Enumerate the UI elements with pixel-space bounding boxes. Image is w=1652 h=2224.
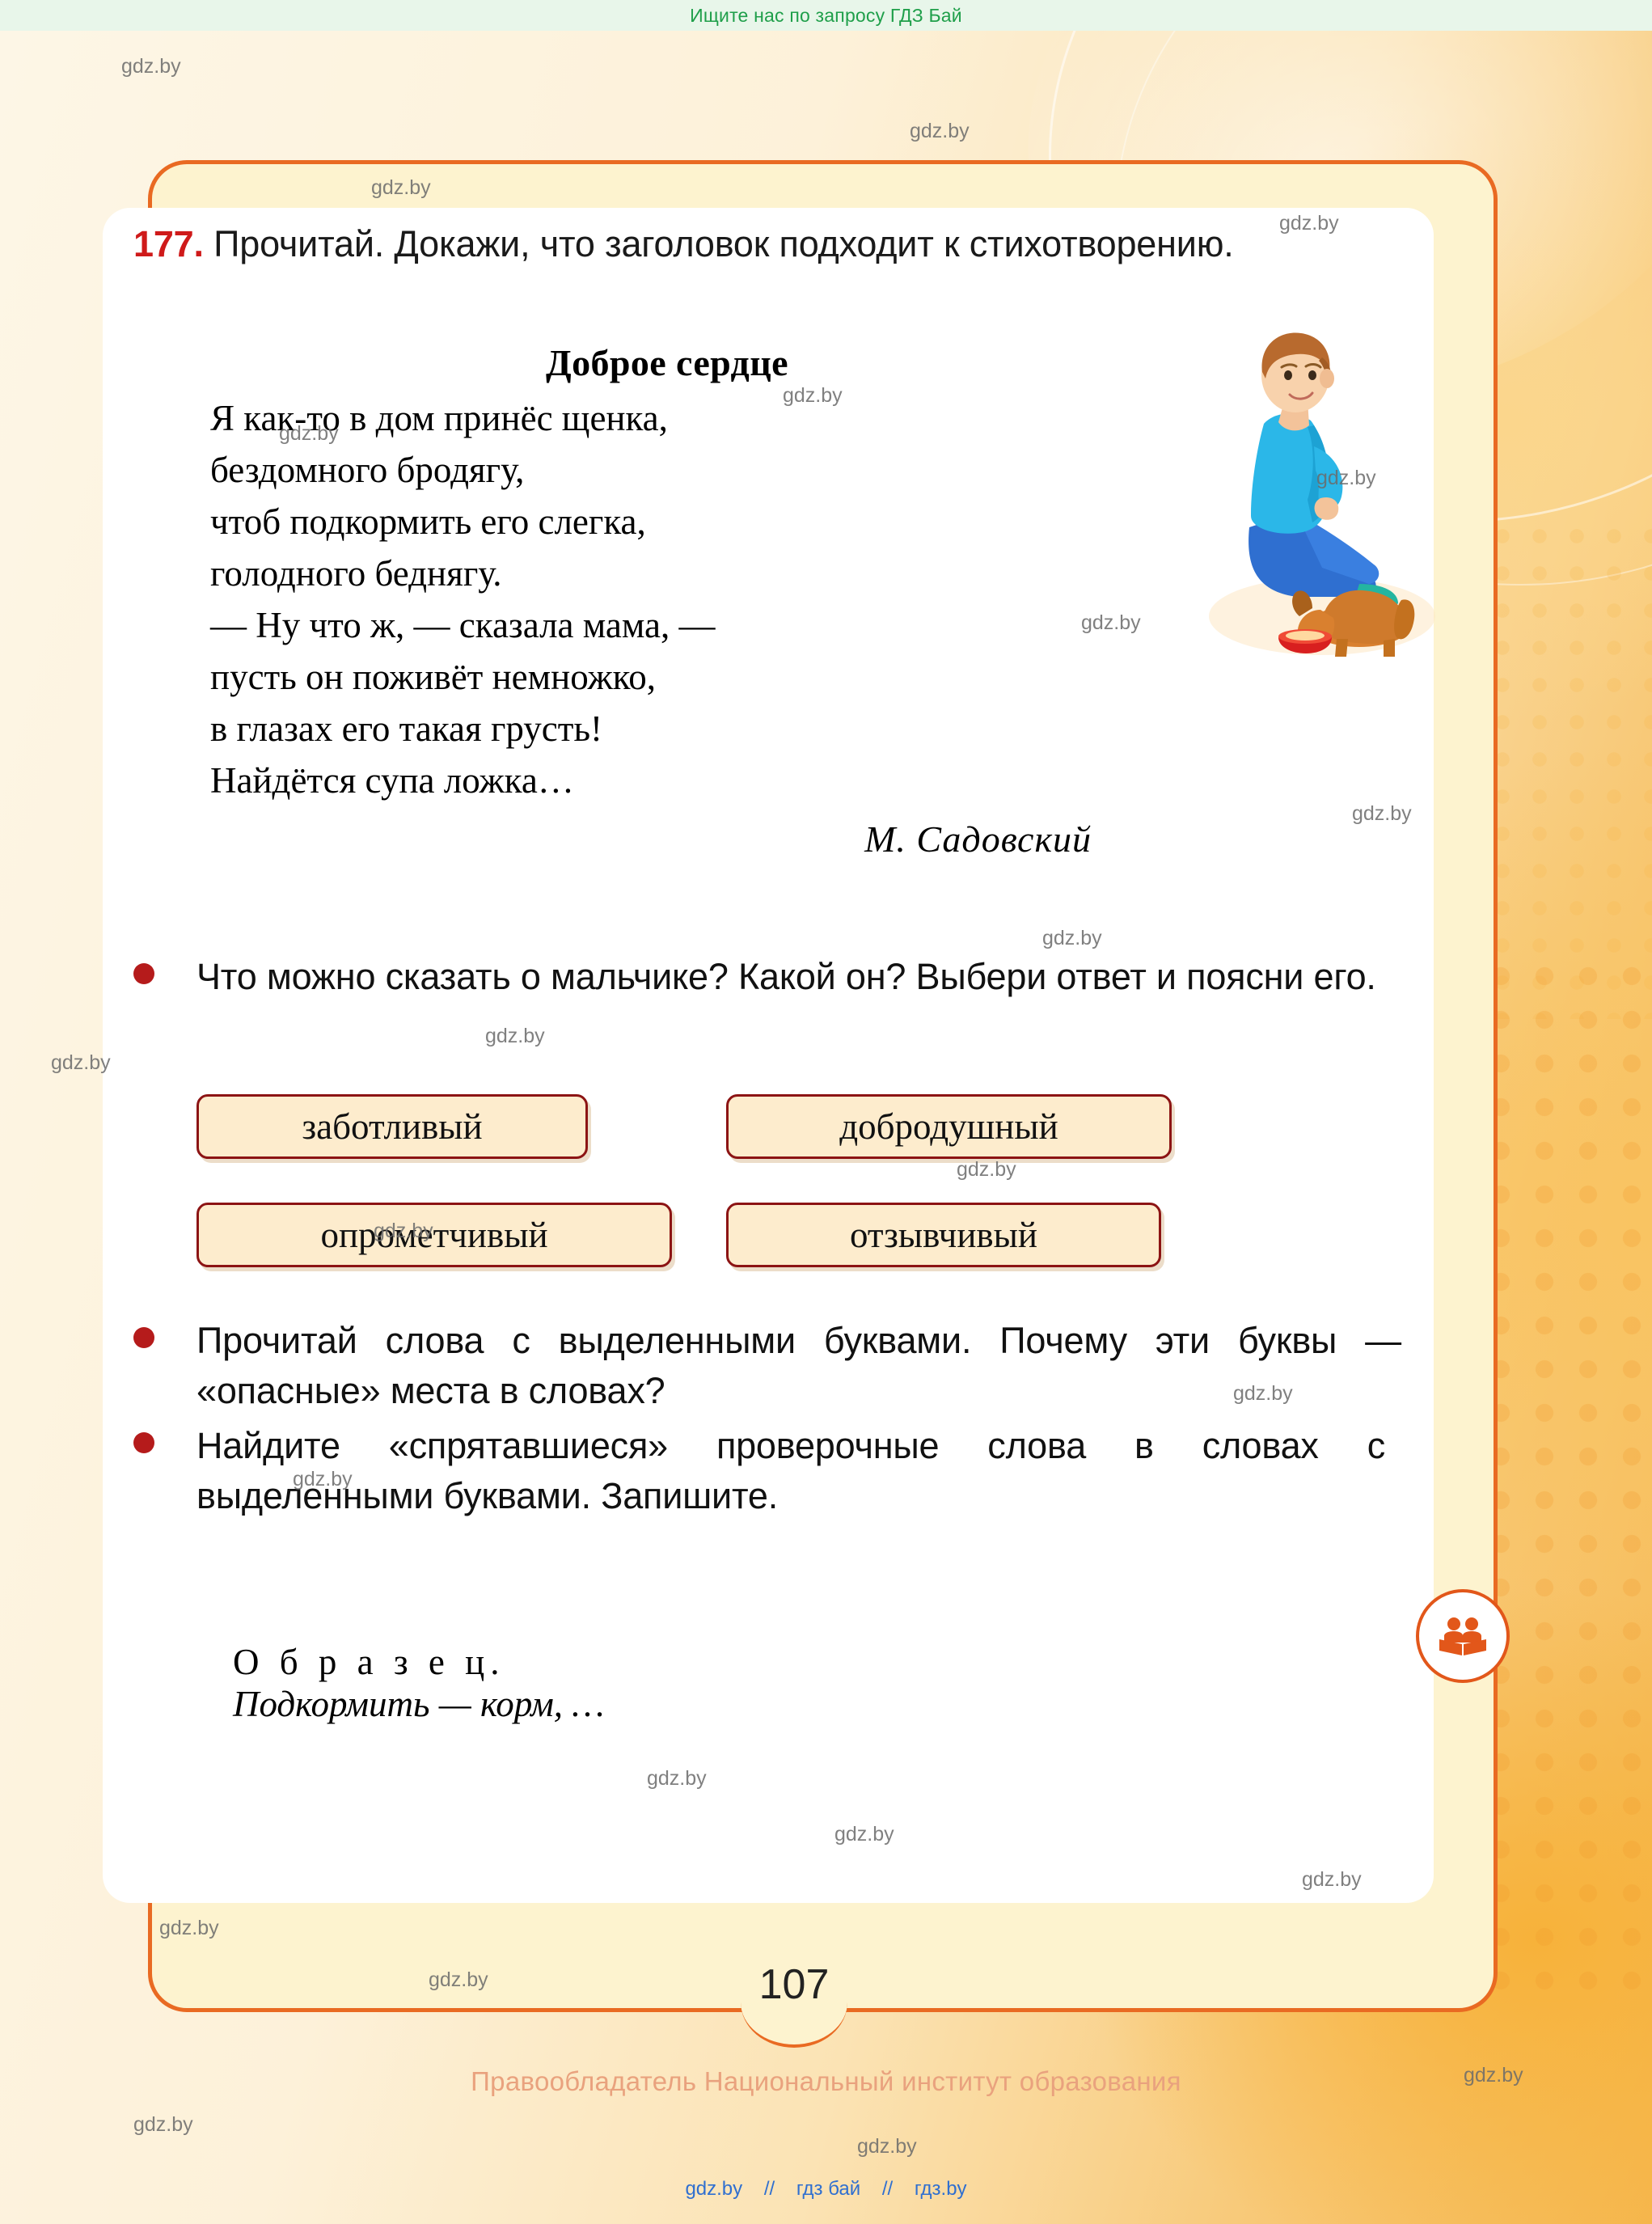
bullet-dot-icon [133,963,154,984]
answer-option-otzyvchivyj[interactable]: отзывчивый [726,1203,1161,1267]
footer: gdz.by // гдз бай // гдз.by [0,2178,1652,2201]
exercise-number: 177. [133,223,204,264]
sample-label: О б р а з е ц. [233,1642,505,1682]
footer-item: гдз.by [915,2178,967,2200]
poem-line: бездомного бродягу, [210,444,1116,496]
poem-line: в глазах его такая грусть! [210,703,1116,755]
footer-item: гдз бай [796,2178,860,2200]
footer-separator: // [882,2178,893,2200]
poem-line: пусть он поживёт немножко, [210,651,1116,703]
exercise-content: 177. Прочитай. Докажи, что заголовок под… [133,220,1411,268]
poem-line: Найдётся супа ложка… [210,755,1116,806]
task-text: Прочитай слова с выделенными буквами. По… [196,1316,1401,1416]
footer-separator: // [764,2178,775,2200]
top-banner: Ищите нас по запросу ГДЗ Бай [0,0,1652,31]
bullet-dot-icon [133,1327,154,1348]
copyright-notice: Правообладатель Национальный институт об… [0,2066,1652,2097]
footer-item: gdz.by [685,2178,742,2200]
answer-option-dobrodushnyj[interactable]: добродушный [726,1094,1172,1159]
illustration-boy-and-puppy [1201,325,1443,673]
poem-author: М. Садовский [210,818,1092,860]
bullet-dot-icon [133,1432,154,1453]
sample-line: О б р а з е ц. Подкормить — корм, … [196,1599,604,1767]
task-item-1: Что можно сказать о мальчике? Какой он? … [133,952,1395,1002]
page-number: 107 [741,1960,847,2009]
sample-text: Подкормить — корм, … [233,1684,604,1724]
task-item-3: Найдите «спрятавшиеся» проверочные слова… [133,1421,1395,1521]
task-text: Что можно сказать о мальчике? Какой он? … [196,952,1385,1002]
exercise-heading: 177. Прочитай. Докажи, что заголовок под… [133,220,1379,268]
answer-option-zabotlivyj[interactable]: заботливый [196,1094,588,1159]
poem: Доброе сердце Я как-то в дом принёс щенк… [210,341,1116,860]
open-book-icon [1438,1615,1488,1657]
task-text: Найдите «спрятавшиеся» проверочные слова… [196,1421,1385,1521]
answer-option-oprometchivyj[interactable]: опрометчивый [196,1203,672,1267]
poem-line: — Ну что ж, — сказала мама, — [210,599,1116,651]
open-book-badge [1416,1589,1510,1683]
exercise-prompt: Прочитай. Докажи, что заголовок подходит… [213,223,1233,264]
poem-line: голодного беднягу. [210,548,1116,599]
task-item-2: Прочитай слова с выделенными буквами. По… [133,1316,1395,1416]
poem-line: Я как-то в дом принёс щенка, [210,392,1116,444]
poem-line: чтоб подкормить его слегка, [210,496,1116,548]
poem-title: Доброе сердце [299,341,1035,384]
